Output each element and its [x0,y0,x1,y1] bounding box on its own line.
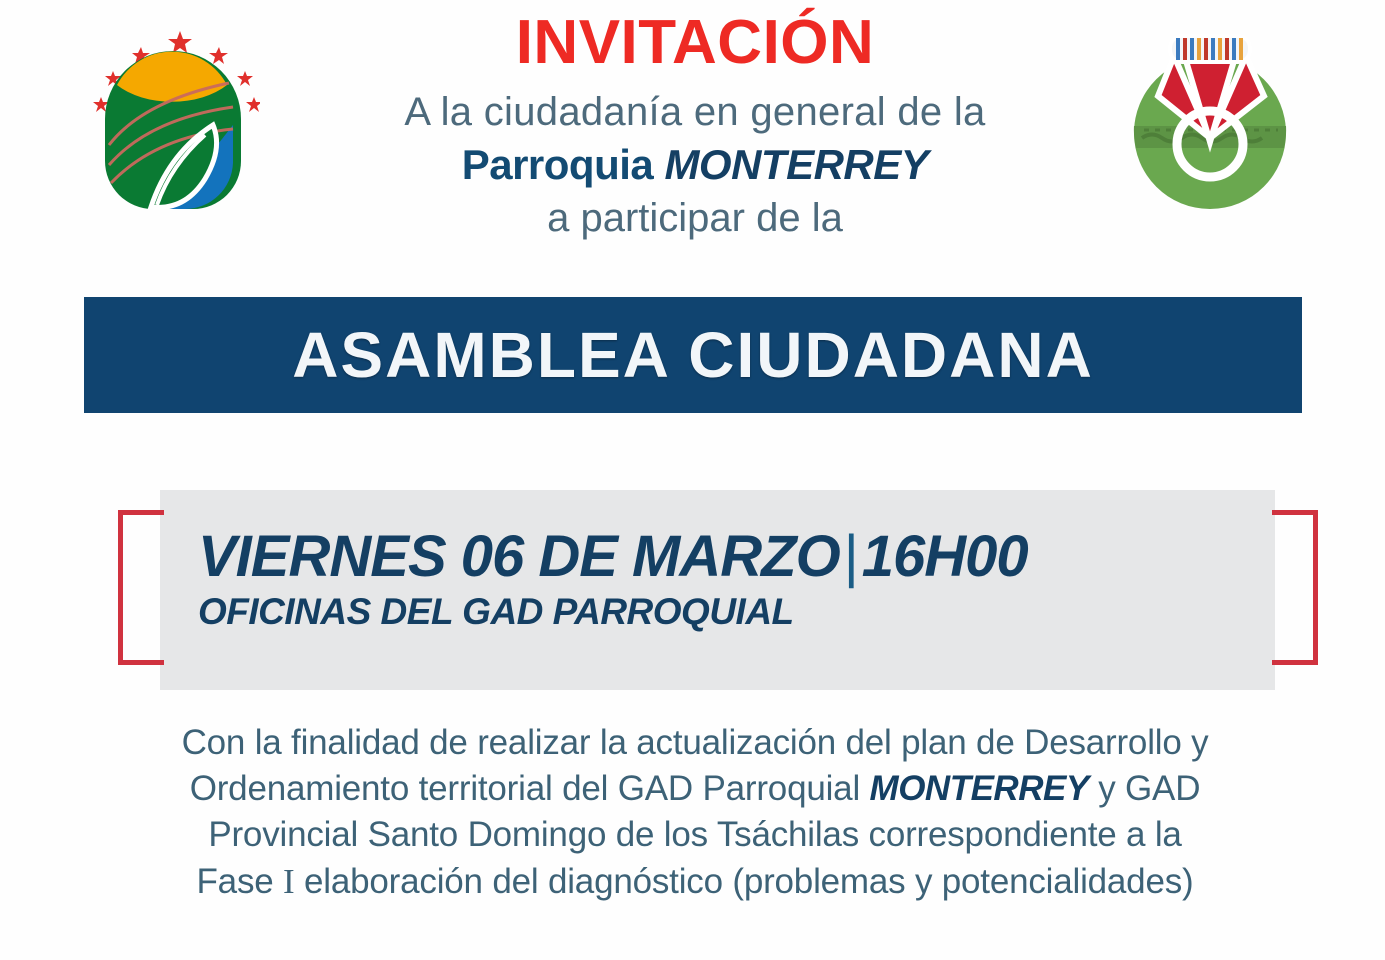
poster-header: INVITACIÓN A la ciudadanía en general de… [0,0,1385,285]
description-line-2: Ordenamiento territorial del GAD Parroqu… [80,766,1310,812]
parroquia-name: MONTERREY [664,141,928,188]
event-description: Con la finalidad de realizar la actualiz… [80,720,1310,905]
description-line-2-part-b: y GAD [1098,769,1200,808]
description-line-4: Fase I elaboración del diagnóstico (prob… [80,859,1310,905]
event-details-block: VIERNES 06 DE MARZO|16H00 OFICINAS DEL G… [110,495,1270,685]
description-phase-label: Fase [197,862,274,901]
page-title: INVITACIÓN [300,10,1090,75]
bracket-left-decoration [118,510,164,665]
header-subtitle-line-1: A la ciudadanía en general de la [300,89,1090,135]
event-time: 16H00 [862,524,1028,589]
event-separator-icon: | [840,524,862,589]
event-venue: OFICINAS DEL GAD PARROQUIAL [198,592,1198,633]
invitation-poster: INVITACIÓN A la ciudadanía en general de… [0,0,1385,960]
description-phase-numeral: I [283,862,294,901]
event-date: VIERNES 06 DE MARZO [198,524,840,589]
bracket-right-decoration [1272,510,1318,665]
gad-provincial-santo-domingo-logo [1118,18,1303,213]
gad-parroquial-monterrey-logo [85,25,260,225]
description-line-4-rest: elaboración del diagnóstico (problemas y… [304,862,1193,901]
description-parroquia-name: MONTERREY [870,769,1089,808]
header-subtitle-line-2: Parroquia MONTERREY [300,141,1090,189]
parroquia-label: Parroquia [462,141,665,188]
assembly-banner: ASAMBLEA CIUDADANA [84,297,1302,413]
header-text-block: INVITACIÓN A la ciudadanía en general de… [300,10,1090,241]
header-subtitle-line-3: a participar de la [300,195,1090,241]
event-date-line: VIERNES 06 DE MARZO|16H00 [198,527,1198,588]
banner-title: ASAMBLEA CIUDADANA [292,318,1094,392]
description-line-3: Provincial Santo Domingo de los Tsáchila… [80,812,1310,858]
description-line-1: Con la finalidad de realizar la actualiz… [80,720,1310,766]
event-text-group: VIERNES 06 DE MARZO|16H00 OFICINAS DEL G… [198,527,1198,633]
description-line-2-part-a: Ordenamiento territorial del GAD Parroqu… [190,769,860,808]
